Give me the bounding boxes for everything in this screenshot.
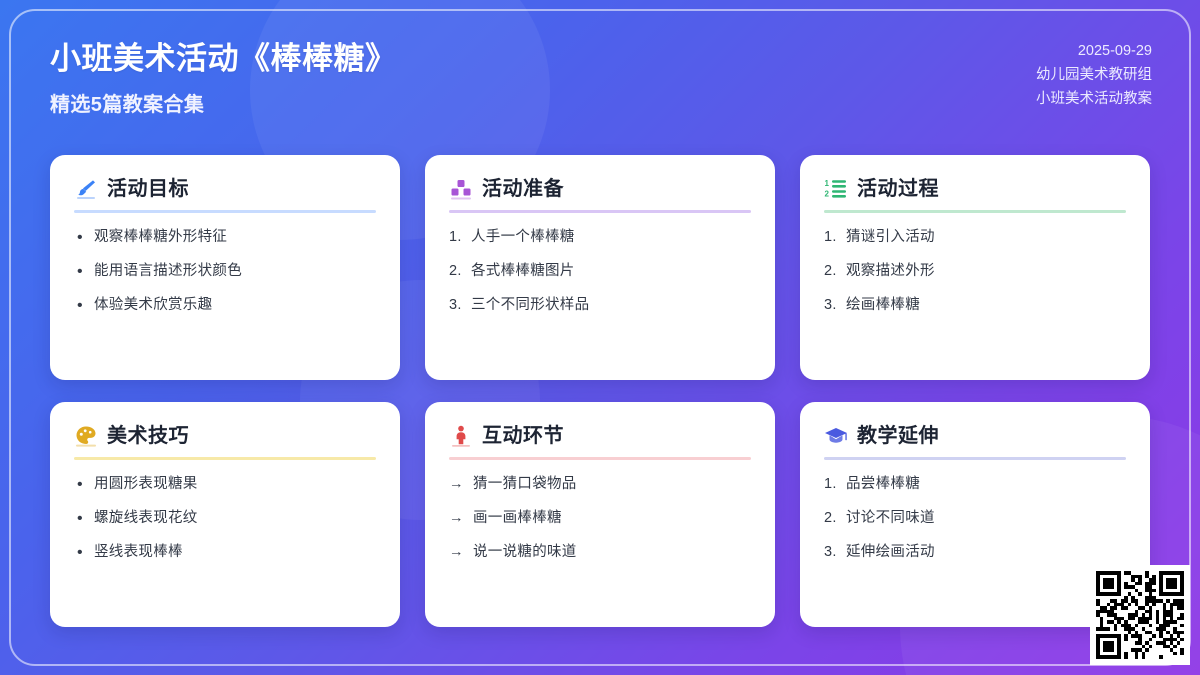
paintbrush-icon <box>74 177 98 201</box>
card-title: 活动目标 <box>107 179 189 199</box>
card-header: 活动准备 <box>449 177 751 210</box>
card-header: 活动目标 <box>74 177 376 210</box>
card-divider <box>824 457 1126 460</box>
poster-header: 小班美术活动《棒棒糖》 精选5篇教案合集 2025-09-29 幼儿园美术教研组… <box>50 40 1152 117</box>
list-item-text: 猜谜引入活动 <box>846 227 1126 249</box>
poster-page: 小班美术活动《棒棒糖》 精选5篇教案合集 2025-09-29 幼儿园美术教研组… <box>0 0 1200 675</box>
list-item-marker: 3. <box>824 542 838 564</box>
list-item: →说一说糖的味道 <box>449 542 751 564</box>
card-art-skills: 美术技巧•用圆形表现糖果•螺旋线表现花纹•竖线表现棒棒 <box>50 402 400 627</box>
list-item-text: 能用语言描述形状颜色 <box>94 261 376 283</box>
list-item-text: 画一画棒棒糖 <box>473 508 751 530</box>
list-item-marker: 1. <box>824 474 838 496</box>
list-item-text: 竖线表现棒棒 <box>94 542 376 564</box>
card-interaction: 互动环节→猜一猜口袋物品→画一画棒棒糖→说一说糖的味道 <box>425 402 775 627</box>
list-item-text: 各式棒棒糖图片 <box>471 261 751 283</box>
list-item-text: 人手一个棒棒糖 <box>471 227 751 249</box>
card-header: 1 2 活动过程 <box>824 177 1126 210</box>
list-item-marker: • <box>74 261 86 283</box>
list-item-text: 延伸绘画活动 <box>846 542 1126 564</box>
list-item: •用圆形表现糖果 <box>74 474 376 496</box>
list-item-marker: • <box>74 227 86 249</box>
numbered-list-icon: 1 2 <box>824 177 848 201</box>
list-item-text: 讨论不同味道 <box>846 508 1126 530</box>
card-title: 活动准备 <box>482 179 564 199</box>
card-divider <box>449 457 751 460</box>
card-activity-process: 1 2 活动过程1.猜谜引入活动2.观察描述外形3.绘画棒棒糖 <box>800 155 1150 380</box>
list-item: 1.品尝棒棒糖 <box>824 474 1126 496</box>
card-header: 互动环节 <box>449 424 751 457</box>
list-item: 2.讨论不同味道 <box>824 508 1126 530</box>
list-item: •体验美术欣赏乐趣 <box>74 295 376 317</box>
blocks-icon <box>449 177 473 201</box>
card-activity-goal: 活动目标•观察棒棒糖外形特征•能用语言描述形状颜色•体验美术欣赏乐趣 <box>50 155 400 380</box>
card-title: 教学延伸 <box>857 426 939 446</box>
page-title: 小班美术活动《棒棒糖》 <box>50 40 397 79</box>
card-list: •观察棒棒糖外形特征•能用语言描述形状颜色•体验美术欣赏乐趣 <box>74 227 376 316</box>
list-item-text: 观察描述外形 <box>846 261 1126 283</box>
list-item-marker: • <box>74 508 86 530</box>
list-item: •能用语言描述形状颜色 <box>74 261 376 283</box>
card-list: 1.人手一个棒棒糖2.各式棒棒糖图片3.三个不同形状样品 <box>449 227 751 316</box>
card-divider <box>449 210 751 213</box>
card-activity-preparation: 活动准备1.人手一个棒棒糖2.各式棒棒糖图片3.三个不同形状样品 <box>425 155 775 380</box>
palette-icon <box>74 424 98 448</box>
meta-organization: 幼儿园美术教研组 <box>1036 64 1152 88</box>
header-meta: 2025-09-29 幼儿园美术教研组 小班美术活动教案 <box>1036 40 1152 112</box>
list-item-text: 三个不同形状样品 <box>471 295 751 317</box>
list-item-marker: 3. <box>449 295 463 317</box>
list-item-marker: 3. <box>824 295 838 317</box>
qr-code-matrix <box>1096 571 1184 659</box>
list-item-text: 螺旋线表现花纹 <box>94 508 376 530</box>
list-item: 2.各式棒棒糖图片 <box>449 261 751 283</box>
list-item-text: 品尝棒棒糖 <box>846 474 1126 496</box>
list-item-text: 猜一猜口袋物品 <box>473 474 751 496</box>
card-list: •用圆形表现糖果•螺旋线表现花纹•竖线表现棒棒 <box>74 474 376 563</box>
qr-code[interactable] <box>1090 565 1190 665</box>
page-subtitle: 精选5篇教案合集 <box>50 88 397 117</box>
list-item: 3.延伸绘画活动 <box>824 542 1126 564</box>
meta-date: 2025-09-29 <box>1036 40 1152 64</box>
card-list: 1.猜谜引入活动2.观察描述外形3.绘画棒棒糖 <box>824 227 1126 316</box>
list-item-marker: 2. <box>824 261 838 283</box>
list-item-text: 说一说糖的味道 <box>473 542 751 564</box>
list-item-marker: → <box>449 474 465 496</box>
person-icon <box>449 424 473 448</box>
list-item-marker: → <box>449 508 465 530</box>
list-item-marker: • <box>74 542 86 564</box>
list-item-text: 体验美术欣赏乐趣 <box>94 295 376 317</box>
list-item-marker: 1. <box>824 227 838 249</box>
card-title: 活动过程 <box>857 179 939 199</box>
list-item: 1.人手一个棒棒糖 <box>449 227 751 249</box>
card-header: 美术技巧 <box>74 424 376 457</box>
list-item: •螺旋线表现花纹 <box>74 508 376 530</box>
svg-text:1: 1 <box>825 179 830 188</box>
header-title-block: 小班美术活动《棒棒糖》 精选5篇教案合集 <box>50 40 397 117</box>
card-divider <box>74 457 376 460</box>
svg-text:2: 2 <box>825 190 830 199</box>
list-item: •竖线表现棒棒 <box>74 542 376 564</box>
card-grid: 活动目标•观察棒棒糖外形特征•能用语言描述形状颜色•体验美术欣赏乐趣 活动准备1… <box>50 155 1150 627</box>
card-title: 互动环节 <box>482 426 564 446</box>
list-item-text: 绘画棒棒糖 <box>846 295 1126 317</box>
list-item-marker: 2. <box>449 261 463 283</box>
list-item: •观察棒棒糖外形特征 <box>74 227 376 249</box>
list-item: 1.猜谜引入活动 <box>824 227 1126 249</box>
card-title: 美术技巧 <box>107 426 189 446</box>
card-list: 1.品尝棒棒糖2.讨论不同味道3.延伸绘画活动 <box>824 474 1126 563</box>
list-item: →猜一猜口袋物品 <box>449 474 751 496</box>
card-divider <box>824 210 1126 213</box>
list-item: 3.绘画棒棒糖 <box>824 295 1126 317</box>
card-divider <box>74 210 376 213</box>
graduation-cap-icon <box>824 424 848 448</box>
list-item: 2.观察描述外形 <box>824 261 1126 283</box>
list-item-marker: 1. <box>449 227 463 249</box>
list-item-text: 观察棒棒糖外形特征 <box>94 227 376 249</box>
card-header: 教学延伸 <box>824 424 1126 457</box>
list-item: →画一画棒棒糖 <box>449 508 751 530</box>
list-item-text: 用圆形表现糖果 <box>94 474 376 496</box>
list-item-marker: • <box>74 295 86 317</box>
meta-category: 小班美术活动教案 <box>1036 88 1152 112</box>
list-item-marker: • <box>74 474 86 496</box>
list-item-marker: → <box>449 542 465 564</box>
card-list: →猜一猜口袋物品→画一画棒棒糖→说一说糖的味道 <box>449 474 751 563</box>
list-item-marker: 2. <box>824 508 838 530</box>
list-item: 3.三个不同形状样品 <box>449 295 751 317</box>
